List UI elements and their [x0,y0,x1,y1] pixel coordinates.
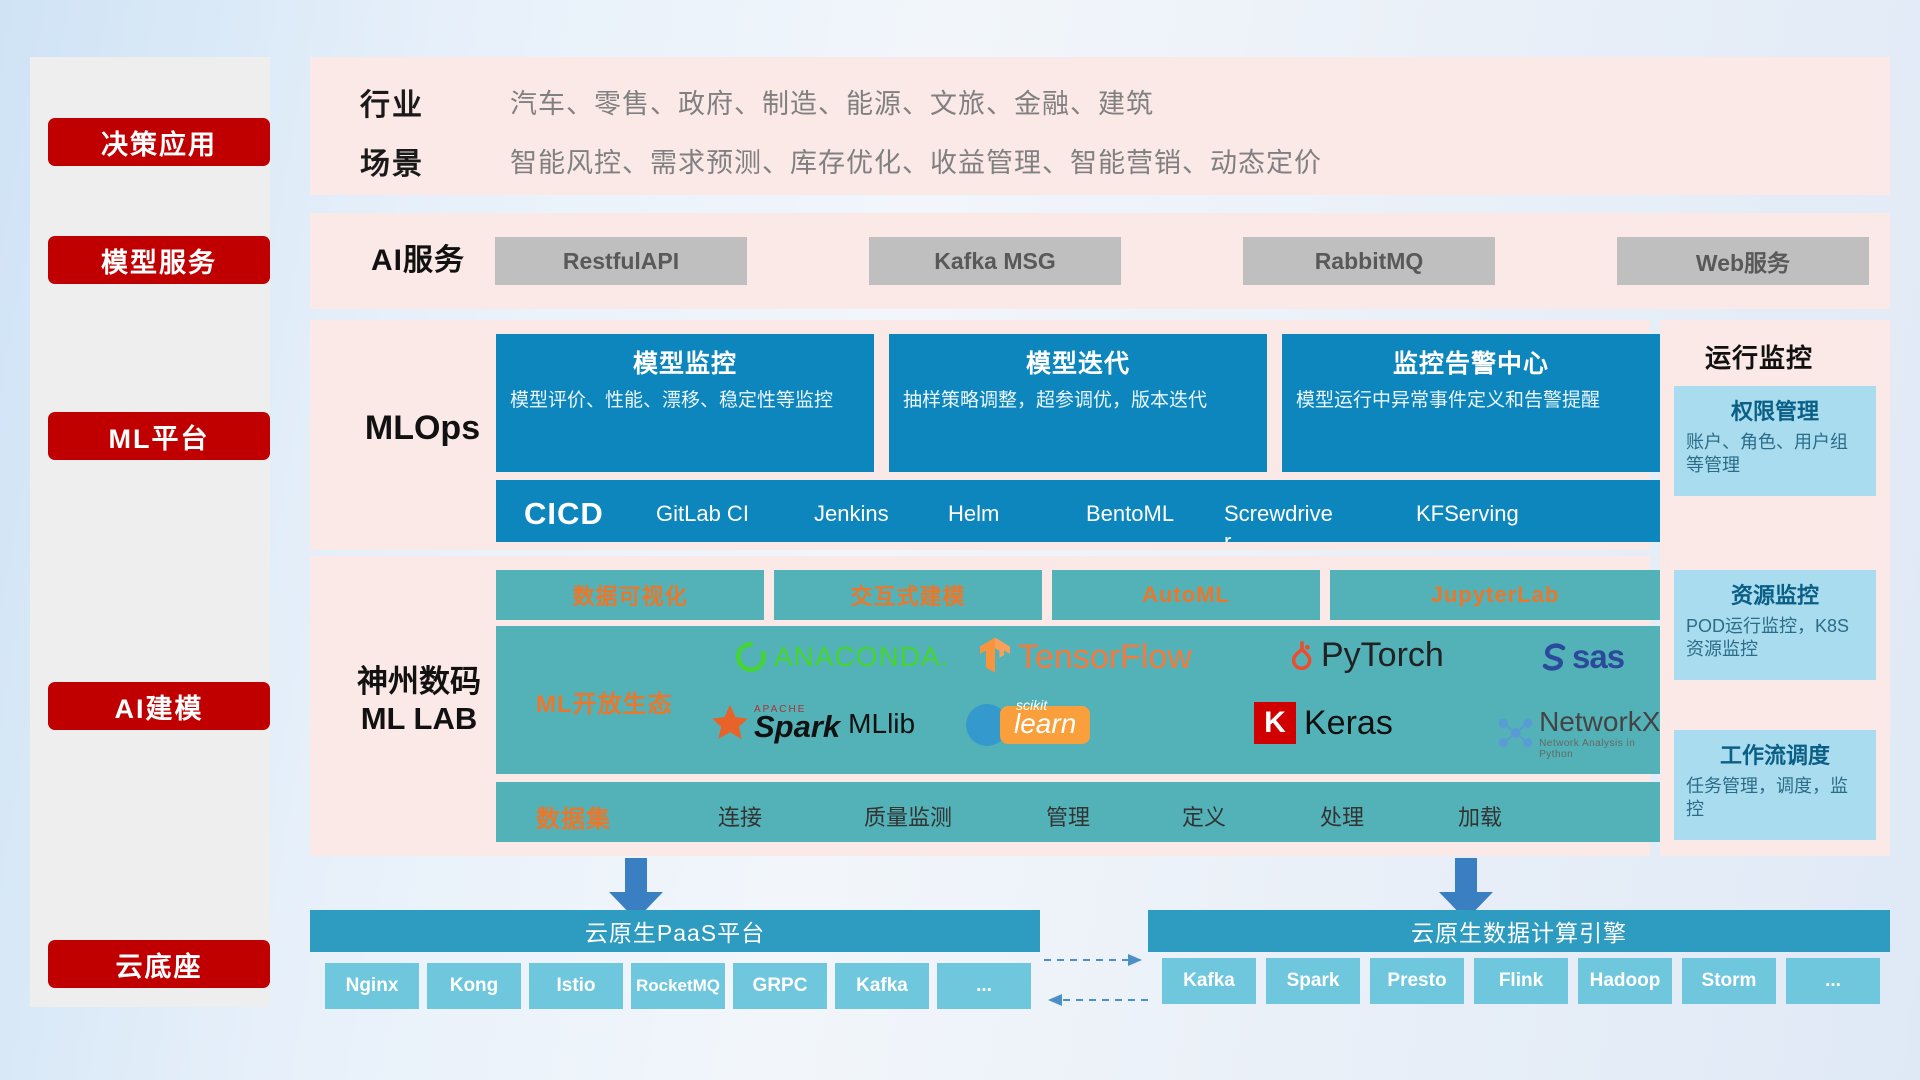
spark-mark [708,702,752,746]
pytorch-mark [1286,637,1318,675]
monitoring-card-workflow[interactable]: 工作流调度 任务管理，调度，监控 [1674,730,1876,840]
scikit-learn-logo: scikit learn [966,704,1090,746]
tab-label: AutoML [1142,582,1230,608]
tag-label: GRPC [753,976,808,997]
scenario-value: 智能风控、需求预测、库存优化、收益管理、智能营销、动态定价 [510,141,1322,180]
dataset-item-process[interactable]: 处理 [1320,800,1364,832]
mlops-card-model-iteration[interactable]: 模型迭代 抽样策略调整，超参调优，版本迭代 [889,334,1267,472]
mlops-card-alert-center[interactable]: 监控告警中心 模型运行中异常事件定义和告警提醒 [1282,334,1660,472]
monitoring-panel: 运行监控 权限管理 账户、角色、用户组等管理 资源监控 POD运行监控，K8S资… [1660,320,1890,856]
keras-logo: K Keras [1254,702,1393,744]
pytorch-logo: PyTorch [1286,636,1444,675]
service-chip-restfulapi[interactable]: RestfulAPI [495,237,747,285]
tier-pill-ml-platform[interactable]: ML平台 [48,412,270,460]
tag-label: Flink [1499,971,1543,992]
dataset-item-define[interactable]: 定义 [1182,800,1226,832]
ai-service-label: AI服务 [338,237,498,285]
tier-label: 模型服务 [101,241,217,280]
card-desc: 抽样策略调整，超参调优，版本迭代 [903,388,1253,413]
tag-label: ... [1825,971,1841,992]
card-title: 监控告警中心 [1296,344,1646,380]
cicd-bar: CICD GitLab CI Jenkins Helm BentoML Scre… [496,480,1660,542]
cicd-item-gitlab-ci[interactable]: GitLab CI [656,500,768,528]
tab-label: 数据可视化 [572,579,687,611]
chip-label: Web服务 [1696,244,1790,278]
card-desc: POD运行监控，K8S资源监控 [1686,615,1864,662]
ml-lab-tab-interactive[interactable]: 交互式建模 [774,570,1042,620]
card-title: 工作流调度 [1686,738,1864,770]
tensorflow-logo: TensorFlow [976,636,1192,678]
dataset-item-connect[interactable]: 连接 [718,800,762,832]
keras-mark: K [1254,702,1296,744]
paas-tag-nginx[interactable]: Nginx [325,963,419,1009]
card-desc: 账户、角色、用户组等管理 [1686,431,1864,478]
tier-pill-cloud-base[interactable]: 云底座 [48,940,270,988]
tag-label: RocketMQ [636,977,720,996]
cicd-item-jenkins[interactable]: Jenkins [814,500,926,528]
mlops-card-model-monitor[interactable]: 模型监控 模型评价、性能、漂移、稳定性等监控 [496,334,874,472]
tier-pill-ai-modeling[interactable]: AI建模 [48,682,270,730]
industry-key: 行业 [360,80,424,124]
tag-label: Storm [1702,971,1757,992]
service-chip-kafka-msg[interactable]: Kafka MSG [869,237,1121,285]
tab-label: JupyterLab [1431,582,1560,608]
tag-label: Kafka [856,976,908,997]
card-desc: 模型评价、性能、漂移、稳定性等监控 [510,388,860,413]
ml-ecosystem-label: ML开放生态 [536,684,673,719]
anaconda-mark [734,640,768,674]
paas-tag-istio[interactable]: Istio [529,963,623,1009]
engine-tag-storm[interactable]: Storm [1682,958,1776,1004]
tier-pill-model-serving[interactable]: 模型服务 [48,236,270,284]
cicd-item-kfserving[interactable]: KFServing [1416,500,1528,528]
paas-tag-kong[interactable]: Kong [427,963,521,1009]
industry-scenario-panel: 行业 汽车、零售、政府、制造、能源、文旅、金融、建筑 场景 智能风控、需求预测、… [310,57,1890,195]
chip-label: Kafka MSG [934,248,1055,275]
paas-tag-more[interactable]: ... [937,963,1031,1009]
paas-tag-grpc[interactable]: GRPC [733,963,827,1009]
tag-label: Kong [450,976,499,997]
networkx-text: NetworkX [1539,706,1660,737]
tier-label: 决策应用 [101,123,217,162]
tag-label: Hadoop [1590,971,1661,992]
service-chip-web[interactable]: Web服务 [1617,237,1869,285]
service-chip-rabbitmq[interactable]: RabbitMQ [1243,237,1495,285]
dataset-item-quality[interactable]: 质量监测 [864,800,952,832]
data-engine-band-label: 云原生数据计算引擎 [1411,914,1627,948]
dataset-band: 数据集 连接 质量监测 管理 定义 处理 加载 [496,782,1660,842]
card-title: 模型监控 [510,344,860,380]
paas-band-label: 云原生PaaS平台 [585,914,765,948]
card-title: 资源监控 [1686,578,1864,610]
mllib-text: MLlib [848,708,915,740]
anaconda-logo: ANACONDA. [734,640,949,674]
ai-service-panel: AI服务 RestfulAPI Kafka MSG RabbitMQ Web服务 [310,213,1890,309]
chip-label: RestfulAPI [563,248,679,275]
keras-text: Keras [1304,704,1393,743]
tag-label: Kafka [1183,971,1235,992]
networkx-sub: Network Analysis in Python [1539,738,1663,760]
tag-label: Istio [556,976,595,997]
tier-pill-decision[interactable]: 决策应用 [48,118,270,166]
scenario-key: 场景 [360,139,424,183]
ml-lab-tab-jupyterlab[interactable]: JupyterLab [1330,570,1660,620]
engine-tag-spark[interactable]: Spark [1266,958,1360,1004]
monitoring-card-permissions[interactable]: 权限管理 账户、角色、用户组等管理 [1674,386,1876,496]
tag-label: ... [976,976,992,997]
anaconda-text: ANACONDA. [774,641,949,673]
tag-label: Nginx [346,976,399,997]
sas-mark [1536,639,1572,675]
engine-tag-flink[interactable]: Flink [1474,958,1568,1004]
engine-tag-more[interactable]: ... [1786,958,1880,1004]
chip-label: RabbitMQ [1315,248,1424,275]
engine-tag-presto[interactable]: Presto [1370,958,1464,1004]
paas-tag-kafka[interactable]: Kafka [835,963,929,1009]
tier-label: 云底座 [116,945,203,984]
tensorflow-text: TensorFlow [1018,638,1192,677]
card-title: 模型迭代 [903,344,1253,380]
architecture-diagram: 决策应用 模型服务 ML平台 AI建模 云底座 行业 汽车、零售、政府、制造、能… [0,0,1920,1080]
card-desc: 模型运行中异常事件定义和告警提醒 [1296,388,1646,413]
paas-tag-rocketmq[interactable]: RocketMQ [631,963,725,1009]
ml-ecosystem-band: ML开放生态 ANACONDA. TensorFlow [496,626,1660,774]
cicd-lead-label: CICD [524,496,604,532]
sas-logo: sas [1536,638,1624,676]
cicd-item-screwdriver[interactable]: Screwdriver [1224,500,1336,542]
engine-tag-hadoop[interactable]: Hadoop [1578,958,1672,1004]
tier-label: ML平台 [109,417,210,456]
ml-lab-label-line2: ML LAB [361,701,478,738]
cicd-item-bentoml[interactable]: BentoML [1086,500,1198,528]
dataset-item-load[interactable]: 加载 [1458,800,1502,832]
sas-text: sas [1572,638,1624,676]
cicd-item-helm[interactable]: Helm [948,500,1060,528]
stack-connector-arrows [1040,946,1152,1016]
tier-rail [30,57,270,1007]
tier-label: AI建模 [115,687,204,726]
card-desc: 任务管理，调度，监控 [1686,775,1864,822]
tag-label: Presto [1387,971,1446,992]
mlops-panel: MLOps 模型监控 模型评价、性能、漂移、稳定性等监控 模型迭代 抽样策略调整… [310,320,1650,550]
spark-text: Spark [754,709,840,744]
ml-lab-label-line1: 神州数码 [357,664,481,701]
networkx-mark [1496,713,1535,753]
industry-value: 汽车、零售、政府、制造、能源、文旅、金融、建筑 [510,82,1154,121]
engine-tag-kafka[interactable]: Kafka [1162,958,1256,1004]
networkx-logo: NetworkX Network Analysis in Python [1496,706,1663,760]
dataset-label: 数据集 [536,799,611,834]
dataset-item-manage[interactable]: 管理 [1046,800,1090,832]
ml-lab-tab-data-viz[interactable]: 数据可视化 [496,570,764,620]
scikit-sub: scikit [1016,697,1047,713]
ml-lab-tab-automl[interactable]: AutoML [1052,570,1320,620]
monitoring-title: 运行监控 [1705,338,1813,375]
monitoring-card-resources[interactable]: 资源监控 POD运行监控，K8S资源监控 [1674,570,1876,680]
ml-lab-label: 神州数码 ML LAB [324,661,514,741]
tag-label: Spark [1287,971,1340,992]
ml-lab-panel: 神州数码 ML LAB 数据可视化 交互式建模 AutoML JupyterLa… [310,556,1650,856]
mlops-label: MLOps [330,398,515,458]
paas-band[interactable]: 云原生PaaS平台 [310,910,1040,952]
card-title: 权限管理 [1686,394,1864,426]
tab-label: 交互式建模 [850,579,965,611]
spark-mllib-logo: APACHE Spark MLlib [708,702,915,746]
data-engine-band[interactable]: 云原生数据计算引擎 [1148,910,1890,952]
tensorflow-mark [976,636,1014,678]
pytorch-text: PyTorch [1321,636,1444,675]
